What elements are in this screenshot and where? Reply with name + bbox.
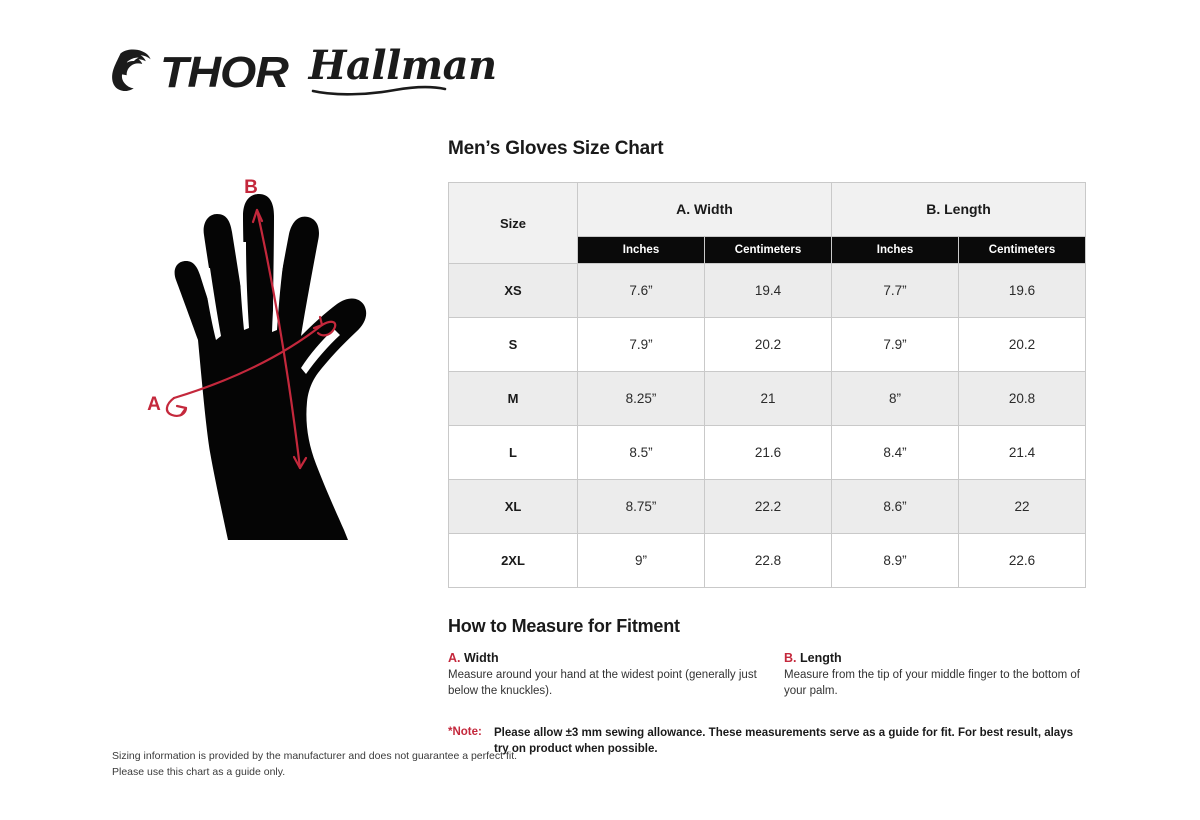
thor-logo: THOR	[112, 48, 281, 96]
how-to-measure-columns: A. Width Measure around your hand at the…	[448, 651, 1086, 699]
measure-item-letter: B.	[784, 651, 797, 665]
brand-logo-bar: THOR Hallman	[112, 48, 497, 96]
measure-item-length: B. Length Measure from the tip of your m…	[784, 651, 1086, 699]
measure-item-width: A. Width Measure around your hand at the…	[448, 651, 784, 699]
cell-length-inches: 8.9”	[832, 534, 959, 588]
measure-item-letter: A.	[448, 651, 461, 665]
cell-width-inches: 7.6”	[578, 264, 705, 318]
footer-line-2: Please use this chart as a guide only.	[112, 764, 517, 780]
cell-length-inches: 7.7”	[832, 264, 959, 318]
cell-width-centimeters: 22.8	[705, 534, 832, 588]
cell-length-centimeters: 21.4	[959, 426, 1086, 480]
column-header-length-inches: Inches	[832, 236, 959, 263]
cell-width-inches: 8.5”	[578, 426, 705, 480]
thor-wordmark: THOR	[160, 51, 288, 95]
column-header-length: B. Length	[832, 183, 1086, 237]
table-row: XS 7.6” 19.4 7.7” 19.6	[449, 264, 1086, 318]
size-chart-content: Men’s Gloves Size Chart Size A. Width B.…	[448, 138, 1086, 757]
size-chart-table: Size A. Width B. Length Inches Centimete…	[448, 182, 1086, 588]
measure-item-heading: B. Length	[784, 651, 1086, 665]
cell-length-inches: 8.4”	[832, 426, 959, 480]
table-row: XL 8.75” 22.2 8.6” 22	[449, 480, 1086, 534]
cell-size: L	[449, 426, 578, 480]
table-header-row-groups: Size A. Width B. Length	[449, 183, 1086, 237]
cell-width-centimeters: 19.4	[705, 264, 832, 318]
hallman-swash-icon	[311, 84, 447, 96]
column-header-length-centimeters: Centimeters	[959, 236, 1086, 263]
cell-width-centimeters: 21.6	[705, 426, 832, 480]
cell-size: S	[449, 318, 578, 372]
cell-width-centimeters: 21	[705, 372, 832, 426]
column-header-width: A. Width	[578, 183, 832, 237]
table-row: S 7.9” 20.2 7.9” 20.2	[449, 318, 1086, 372]
column-header-width-centimeters: Centimeters	[705, 236, 832, 263]
cell-size: XL	[449, 480, 578, 534]
cell-length-inches: 7.9”	[832, 318, 959, 372]
cell-width-inches: 8.75”	[578, 480, 705, 534]
thor-helmet-icon	[112, 48, 158, 96]
table-body: XS 7.6” 19.4 7.7” 19.6 S 7.9” 20.2 7.9” …	[449, 264, 1086, 588]
footer-line-1: Sizing information is provided by the ma…	[112, 748, 517, 764]
cell-width-centimeters: 22.2	[705, 480, 832, 534]
measure-item-description: Measure around your hand at the widest p…	[448, 668, 772, 699]
table-row: M 8.25” 21 8” 20.8	[449, 372, 1086, 426]
table-row: L 8.5” 21.6 8.4” 21.4	[449, 426, 1086, 480]
cell-length-inches: 8”	[832, 372, 959, 426]
cell-width-inches: 7.9”	[578, 318, 705, 372]
table-header: Size A. Width B. Length Inches Centimete…	[449, 183, 1086, 264]
cell-length-centimeters: 20.2	[959, 318, 1086, 372]
cell-width-inches: 8.25”	[578, 372, 705, 426]
note-text: Please allow ±3 mm sewing allowance. The…	[494, 726, 1084, 757]
cell-size: XS	[449, 264, 578, 318]
measure-item-heading: A. Width	[448, 651, 772, 665]
cell-width-inches: 9”	[578, 534, 705, 588]
measure-label-a: A	[147, 394, 161, 415]
cell-length-centimeters: 19.6	[959, 264, 1086, 318]
footer-disclaimer: Sizing information is provided by the ma…	[112, 748, 517, 781]
how-to-measure-title: How to Measure for Fitment	[448, 616, 1086, 637]
table-row: 2XL 9” 22.8 8.9” 22.6	[449, 534, 1086, 588]
measure-item-description: Measure from the tip of your middle fing…	[784, 668, 1086, 699]
cell-size: M	[449, 372, 578, 426]
column-header-size: Size	[449, 183, 578, 264]
column-header-width-inches: Inches	[578, 236, 705, 263]
cell-length-inches: 8.6”	[832, 480, 959, 534]
cell-length-centimeters: 20.8	[959, 372, 1086, 426]
page-title: Men’s Gloves Size Chart	[448, 138, 1086, 160]
measure-item-name: Length	[800, 651, 842, 665]
cell-width-centimeters: 20.2	[705, 318, 832, 372]
measure-item-name: Width	[464, 651, 499, 665]
hallman-wordmark: Hallman	[309, 42, 497, 89]
note-block: *Note: Please allow ±3 mm sewing allowan…	[448, 726, 1086, 757]
cell-length-centimeters: 22.6	[959, 534, 1086, 588]
measure-label-b: B	[244, 177, 258, 198]
cell-size: 2XL	[449, 534, 578, 588]
hand-silhouette-icon: A B	[120, 168, 440, 558]
hand-measurement-diagram: A B	[120, 168, 440, 558]
hallman-logo: Hallman	[309, 48, 497, 96]
cell-length-centimeters: 22	[959, 480, 1086, 534]
